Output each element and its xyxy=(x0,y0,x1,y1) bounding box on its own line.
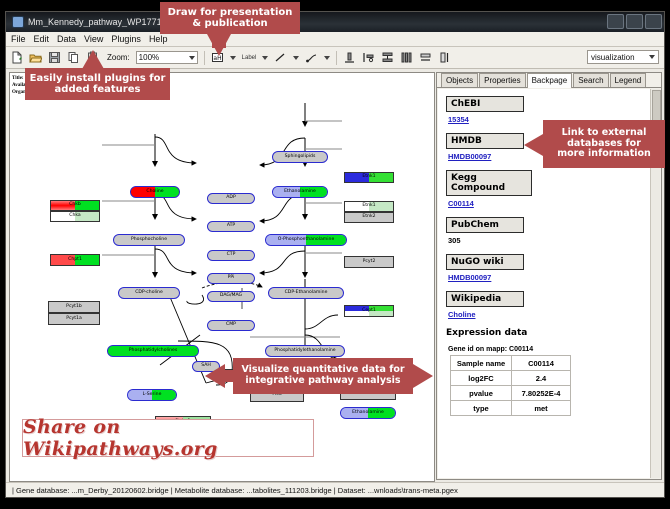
gene-node-pcyt2[interactable]: Pcyt2 xyxy=(344,256,394,268)
save-icon[interactable] xyxy=(48,51,61,64)
callout-line-2: added features xyxy=(55,84,141,96)
metabolite-node-l-serine-left[interactable]: L-Serine xyxy=(127,389,177,401)
metabolite-node-cdp-ethanolamine[interactable]: CDP-Ethanolamine xyxy=(268,287,344,299)
node-label: Sphingolipids xyxy=(285,155,316,160)
node-label: Choline xyxy=(146,190,163,195)
interaction-icon[interactable] xyxy=(305,51,318,64)
gene-node-pcyt1b[interactable]: Pcyt1b xyxy=(48,301,100,313)
node-label: O-Phosphoethanolamine xyxy=(278,238,335,243)
set-common-height-icon[interactable] xyxy=(438,51,451,64)
toolbar-separator xyxy=(336,51,337,65)
table-row: type met xyxy=(451,401,571,416)
gene-id-on-mapp: Gene id on mapp: C00114 xyxy=(448,346,652,353)
node-label: Phosphatidylethanolamine xyxy=(274,349,335,354)
callout-draw-for-presentation: Draw for presentation & publication xyxy=(160,2,300,34)
close-button[interactable] xyxy=(645,14,662,29)
callout-line-1: Easily install plugins for xyxy=(30,73,166,85)
db-link-wikipedia[interactable]: Choline xyxy=(448,310,652,319)
node-label: Chkb xyxy=(69,203,81,208)
tool-label-text[interactable]: Label xyxy=(242,55,257,61)
node-label: PPi xyxy=(228,276,235,281)
menu-item-edit[interactable]: Edit xyxy=(34,34,50,44)
db-header-kegg-compound: Kegg Compound xyxy=(446,170,532,196)
node-label: ATP xyxy=(227,224,235,229)
gene-node-pcyt1a[interactable]: Pcyt1a xyxy=(48,313,100,325)
db-header-pubchem: PubChem xyxy=(446,217,524,233)
db-header-hmdb: HMDB xyxy=(446,133,524,149)
svg-text:aH: aH xyxy=(213,55,221,62)
metabolite-node-atp[interactable]: ATP xyxy=(207,221,255,232)
share-banner: Share on Wikipathways.org xyxy=(22,419,314,457)
zoom-select[interactable]: 100% xyxy=(136,51,198,64)
visualization-select[interactable]: visualization xyxy=(587,50,659,64)
node-label: Chka xyxy=(69,214,81,219)
toolbar-separator xyxy=(204,51,205,65)
expression-data-heading: Expression data xyxy=(446,328,652,338)
callout-arrow-right xyxy=(413,364,433,388)
callout-visualize-quantitative-data: Visualize quantitative data for integrat… xyxy=(233,358,413,394)
expression-key: log2FC xyxy=(451,371,512,386)
tab-backpage[interactable]: Backpage xyxy=(527,73,573,88)
callout-link-to-external-databases: Link to external databases for more info… xyxy=(543,120,665,168)
metabolite-node-ppi[interactable]: PPi xyxy=(207,273,255,284)
node-label: CDP-Ethanolamine xyxy=(285,291,328,296)
zoom-label: Zoom: xyxy=(107,53,130,62)
callout-arrow-up xyxy=(82,50,104,69)
node-label: Pcyt1b xyxy=(66,305,82,310)
metabolite-node-phosphatidylcholines[interactable]: Phosphatidylcholines xyxy=(107,345,199,357)
node-label: ADP xyxy=(226,196,235,201)
tab-search[interactable]: Search xyxy=(573,73,608,87)
callout-easily-install-plugins: Easily install plugins for added feature… xyxy=(25,68,170,100)
metabolite-node-ethanolamine-top[interactable]: Ethanolamine xyxy=(272,186,328,198)
callout-arrow-left xyxy=(524,134,543,156)
tab-objects[interactable]: Objects xyxy=(441,73,478,87)
menu-item-file[interactable]: File xyxy=(11,34,26,44)
gene-node-etnppl[interactable]: Etnk1 xyxy=(344,172,394,183)
set-common-width-icon[interactable] xyxy=(419,51,432,64)
expression-value: 2.4 xyxy=(512,371,571,386)
node-label: Ethanolamine xyxy=(284,190,316,195)
node-label: Ethanolamine xyxy=(352,411,384,416)
callout-arrow-left xyxy=(205,364,225,388)
menu-item-plugins[interactable]: Plugins xyxy=(111,34,141,44)
distribute-icon[interactable] xyxy=(400,51,413,64)
callout-line-2: & publication xyxy=(192,18,267,30)
gene-node-chpt1[interactable]: Chpt1 xyxy=(50,254,100,266)
metabolite-node-cmp[interactable]: CMP xyxy=(207,320,255,331)
gene-node-cept1[interactable]: Cept1 xyxy=(344,305,394,317)
node-label: CMP xyxy=(226,323,236,328)
copy-icon[interactable] xyxy=(67,51,80,64)
tab-properties[interactable]: Properties xyxy=(479,73,525,87)
align-top-icon[interactable] xyxy=(343,51,356,64)
chevron-down-icon[interactable] xyxy=(230,56,236,60)
new-file-icon[interactable] xyxy=(10,51,23,64)
expression-key: type xyxy=(451,401,512,416)
line-icon[interactable] xyxy=(274,51,287,64)
node-label: Pcyt2 xyxy=(363,260,376,265)
db-header-nugo-wiki: NuGO wiki xyxy=(446,254,524,270)
chevron-down-icon[interactable] xyxy=(293,56,299,60)
metabolite-node-adp[interactable]: ADP xyxy=(207,193,255,204)
menu-item-help[interactable]: Help xyxy=(149,34,168,44)
callout-arrow-down xyxy=(207,34,231,56)
db-header-chebi: ChEBI xyxy=(446,96,524,112)
db-link-nugo-wiki[interactable]: HMDB00097 xyxy=(448,273,652,282)
metabolite-node-ethanolamine-right[interactable]: Ethanolamine xyxy=(340,407,396,419)
stack-vertical-icon[interactable] xyxy=(381,51,394,64)
node-label: Pcyt1a xyxy=(66,317,82,322)
share-text: Share on Wikipathways.org xyxy=(23,416,313,460)
window-buttons[interactable] xyxy=(607,14,662,29)
menu-bar: File Edit Data View Plugins Help xyxy=(6,32,664,47)
node-label: Etnk1 xyxy=(362,204,375,209)
chevron-down-icon[interactable] xyxy=(324,56,330,60)
gene-node-chkb[interactable]: Chkb xyxy=(50,200,100,211)
db-value-pubchem: 305 xyxy=(448,236,652,245)
status-text: | Gene database: ...m_Derby_20120602.bri… xyxy=(12,486,458,495)
node-label: Phosphatidylcholines xyxy=(129,349,177,354)
expression-key: Sample name xyxy=(451,356,512,371)
db-header-wikipedia: Wikipedia xyxy=(446,291,524,307)
chevron-down-icon[interactable] xyxy=(262,56,268,60)
expression-key: pvalue xyxy=(451,386,512,401)
table-row: log2FC 2.4 xyxy=(451,371,571,386)
chevron-down-icon xyxy=(649,55,655,59)
metabolite-node-dag-mag[interactable]: DAG/MAG xyxy=(207,291,255,302)
gene-node-chka[interactable]: Chka xyxy=(50,211,100,222)
node-label: Phosphocholine xyxy=(131,238,167,243)
db-link-kegg-compound[interactable]: C00114 xyxy=(448,199,652,208)
chevron-down-icon xyxy=(189,56,195,60)
minimize-button[interactable] xyxy=(607,14,624,29)
node-label: Cept1 xyxy=(362,309,376,314)
metabolite-node-phosphatidylethanolamine[interactable]: Phosphatidylethanolamine xyxy=(265,345,345,357)
callout-line-3: more information xyxy=(557,149,651,160)
callout-line-2: integrative pathway analysis xyxy=(245,376,400,387)
table-row: Sample name C00114 xyxy=(451,356,571,371)
gene-node-etnk1[interactable]: Etnk1 xyxy=(344,201,394,212)
align-left-icon[interactable] xyxy=(362,51,375,64)
callout-line-1: Draw for presentation xyxy=(168,7,293,19)
expression-value: 7.80252E-4 xyxy=(512,386,571,401)
node-label: Etnk2 xyxy=(362,215,375,220)
title-bar: Mm_Kennedy_pathway_WP1771_45176.gpml xyxy=(6,12,664,32)
node-label: DAG/MAG xyxy=(220,294,242,299)
table-row: pvalue 7.80252E-4 xyxy=(451,386,571,401)
node-label: Etnk1 xyxy=(362,175,375,180)
metabolite-node-phosphocholine[interactable]: Phosphocholine xyxy=(113,234,185,246)
maximize-button[interactable] xyxy=(626,14,643,29)
node-label: Chpt1 xyxy=(68,258,82,263)
node-label: CDP-choline xyxy=(135,291,163,296)
metabolite-node-sphingolipids[interactable]: Sphingolipids xyxy=(272,151,328,163)
zoom-value: 100% xyxy=(139,53,159,62)
tab-legend[interactable]: Legend xyxy=(610,73,647,87)
side-panel-tabs: Objects Properties Backpage Search Legen… xyxy=(437,73,661,88)
metabolite-node-cdp-choline[interactable]: CDP-choline xyxy=(118,287,180,299)
expression-value: C00114 xyxy=(512,356,571,371)
metabolite-node-o-phosphoethanolamine[interactable]: O-Phosphoethanolamine xyxy=(265,234,347,246)
visualization-value: visualization xyxy=(591,53,635,62)
app-icon xyxy=(12,16,24,28)
metabolite-node-choline-top[interactable]: Choline xyxy=(130,186,180,198)
node-label: CTP xyxy=(227,253,236,258)
gene-node-etnk2[interactable]: Etnk2 xyxy=(344,212,394,223)
toolbar: Zoom: 100% aH Label xyxy=(6,47,664,69)
menu-item-view[interactable]: View xyxy=(84,34,103,44)
menu-item-data[interactable]: Data xyxy=(57,34,76,44)
callout-line-1: Link to external xyxy=(562,128,647,139)
metabolite-node-ctp[interactable]: CTP xyxy=(207,250,255,261)
node-label: L-Serine xyxy=(143,393,162,398)
expression-value: met xyxy=(512,401,571,416)
open-folder-icon[interactable] xyxy=(29,51,42,64)
status-bar: | Gene database: ...m_Derby_20120602.bri… xyxy=(6,482,664,497)
expression-table: Sample name C00114 log2FC 2.4 pvalue 7.8… xyxy=(450,355,571,416)
